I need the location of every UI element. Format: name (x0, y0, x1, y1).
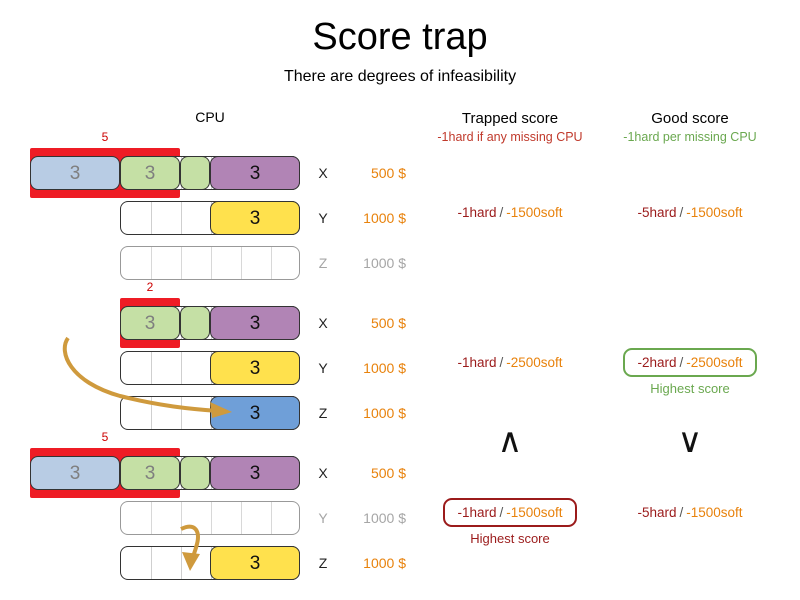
highest-score-annotation: Highest score (580, 381, 800, 396)
machine-cost-label: 1000 $ (336, 555, 406, 571)
capacity-slot-divider (151, 247, 152, 280)
trapped-score-value: -1hard/-1500soft (443, 498, 576, 527)
process-bar[interactable] (180, 306, 210, 340)
capacity-slot-divider (181, 352, 182, 385)
over-capacity-amount: 5 (30, 130, 180, 144)
cpu-column-header: CPU (120, 109, 300, 125)
capacity-slot-divider (271, 247, 272, 280)
good-score-cell: -5hard/-1500soft (580, 505, 800, 520)
highest-score-annotation: Highest score (400, 531, 620, 546)
capacity-slot-divider (211, 502, 212, 535)
machine-row[interactable]: 3 (120, 396, 300, 430)
process-size-label: 3 (250, 359, 261, 378)
process-size-label: 3 (145, 314, 156, 333)
machine-name-label: Z (312, 555, 334, 571)
score-separator: / (496, 205, 506, 220)
hard-score: -1hard (457, 355, 496, 370)
machine-name-label: Y (312, 510, 334, 526)
machine-cost-label: 1000 $ (336, 510, 406, 526)
hard-score: -1hard (457, 505, 496, 520)
capacity-slot-divider (181, 547, 182, 580)
machine-row[interactable]: 333 (120, 456, 300, 490)
machine-name-label: X (312, 165, 334, 181)
score-separator: / (676, 505, 686, 520)
machine-cost-label: 500 $ (336, 315, 406, 331)
page-subtitle: There are degrees of infeasibility (0, 68, 800, 86)
comparison-operator-trapped: ∧ (470, 424, 550, 458)
soft-score: -1500soft (506, 205, 562, 220)
over-capacity-amount: 5 (30, 430, 180, 444)
soft-score: -1500soft (506, 505, 562, 520)
process-size-label: 3 (250, 404, 261, 423)
machine-cost-label: 500 $ (336, 165, 406, 181)
machine-name-label: Z (312, 405, 334, 421)
machine-cost-label: 500 $ (336, 465, 406, 481)
trapped-score-rule: -1hard if any missing CPU (400, 130, 620, 144)
process-bar[interactable]: 3 (210, 456, 300, 490)
process-bar[interactable]: 3 (120, 156, 180, 190)
machine-row[interactable]: 3 (120, 546, 300, 580)
capacity-slot-divider (151, 397, 152, 430)
machine-row[interactable] (120, 501, 300, 535)
capacity-slot-divider (151, 352, 152, 385)
slide-canvas: Score trap There are degrees of infeasib… (0, 0, 800, 600)
capacity-slot-divider (211, 247, 212, 280)
hard-score: -1hard (457, 205, 496, 220)
soft-score: -1500soft (686, 505, 742, 520)
process-bar[interactable]: 3 (210, 156, 300, 190)
score-separator: / (496, 355, 506, 370)
process-bar[interactable]: 3 (120, 306, 180, 340)
machine-name-label: Y (312, 210, 334, 226)
capacity-slot-divider (181, 247, 182, 280)
process-bar[interactable]: 3 (30, 156, 120, 190)
trapped-score-value: -1hard/-2500soft (457, 355, 562, 370)
process-bar[interactable]: 3 (210, 396, 300, 430)
machine-row[interactable]: 3 (120, 351, 300, 385)
machine-cost-label: 1000 $ (336, 210, 406, 226)
machine-row[interactable]: 3 (120, 201, 300, 235)
good-score-value: -5hard/-1500soft (637, 205, 742, 220)
capacity-slot-divider (271, 502, 272, 535)
process-size-label: 3 (70, 164, 81, 183)
trapped-score-value: -1hard/-1500soft (457, 205, 562, 220)
score-separator: / (676, 205, 686, 220)
machine-capacity-container (120, 246, 300, 280)
process-bar[interactable]: 3 (30, 456, 120, 490)
soft-score: -1500soft (686, 205, 742, 220)
capacity-slot-divider (151, 502, 152, 535)
hard-score: -5hard (637, 505, 676, 520)
machine-row[interactable]: 333 (120, 156, 300, 190)
process-bar[interactable]: 3 (120, 456, 180, 490)
over-capacity-amount: 2 (120, 280, 180, 294)
process-bar[interactable]: 3 (210, 351, 300, 385)
machine-name-label: Z (312, 255, 334, 271)
process-size-label: 3 (250, 314, 261, 333)
process-size-label: 3 (250, 164, 261, 183)
trapped-score-column-header: Trapped score -1hard if any missing CPU (400, 110, 620, 144)
capacity-slot-divider (151, 547, 152, 580)
good-score-cell: -2hard/-2500softHighest score (580, 348, 800, 396)
hard-score: -5hard (637, 205, 676, 220)
page-title: Score trap (0, 16, 800, 59)
capacity-slot-divider (151, 202, 152, 235)
capacity-slot-divider (181, 397, 182, 430)
process-bar[interactable] (180, 456, 210, 490)
good-score-title: Good score (651, 110, 729, 127)
hard-score: -2hard (637, 355, 676, 370)
score-separator: / (676, 355, 686, 370)
process-size-label: 3 (70, 464, 81, 483)
machine-capacity-container (120, 501, 300, 535)
process-size-label: 3 (250, 554, 261, 573)
good-score-value: -2hard/-2500soft (623, 348, 756, 377)
comparison-operator-good: ∨ (650, 424, 730, 458)
soft-score: -2500soft (686, 355, 742, 370)
good-score-value: -5hard/-1500soft (637, 505, 742, 520)
capacity-slot-divider (181, 502, 182, 535)
score-separator: / (496, 505, 506, 520)
good-score-cell: -5hard/-1500soft (580, 205, 800, 220)
machine-cost-label: 1000 $ (336, 255, 406, 271)
good-score-column-header: Good score -1hard per missing CPU (600, 110, 780, 144)
process-bar[interactable] (180, 156, 210, 190)
process-bar[interactable]: 3 (210, 546, 300, 580)
capacity-slot-divider (181, 202, 182, 235)
machine-name-label: X (312, 315, 334, 331)
machine-cost-label: 1000 $ (336, 405, 406, 421)
process-size-label: 3 (145, 464, 156, 483)
capacity-slot-divider (241, 502, 242, 535)
machine-name-label: X (312, 465, 334, 481)
machine-name-label: Y (312, 360, 334, 376)
machine-cost-label: 1000 $ (336, 360, 406, 376)
machine-row[interactable]: 33 (120, 306, 300, 340)
trapped-score-title: Trapped score (462, 110, 558, 127)
good-score-rule: -1hard per missing CPU (600, 130, 780, 144)
process-size-label: 3 (145, 164, 156, 183)
capacity-slot-divider (241, 247, 242, 280)
process-bar[interactable]: 3 (210, 306, 300, 340)
machine-row[interactable] (120, 246, 300, 280)
process-bar[interactable]: 3 (210, 201, 300, 235)
process-size-label: 3 (250, 209, 261, 228)
process-size-label: 3 (250, 464, 261, 483)
soft-score: -2500soft (506, 355, 562, 370)
